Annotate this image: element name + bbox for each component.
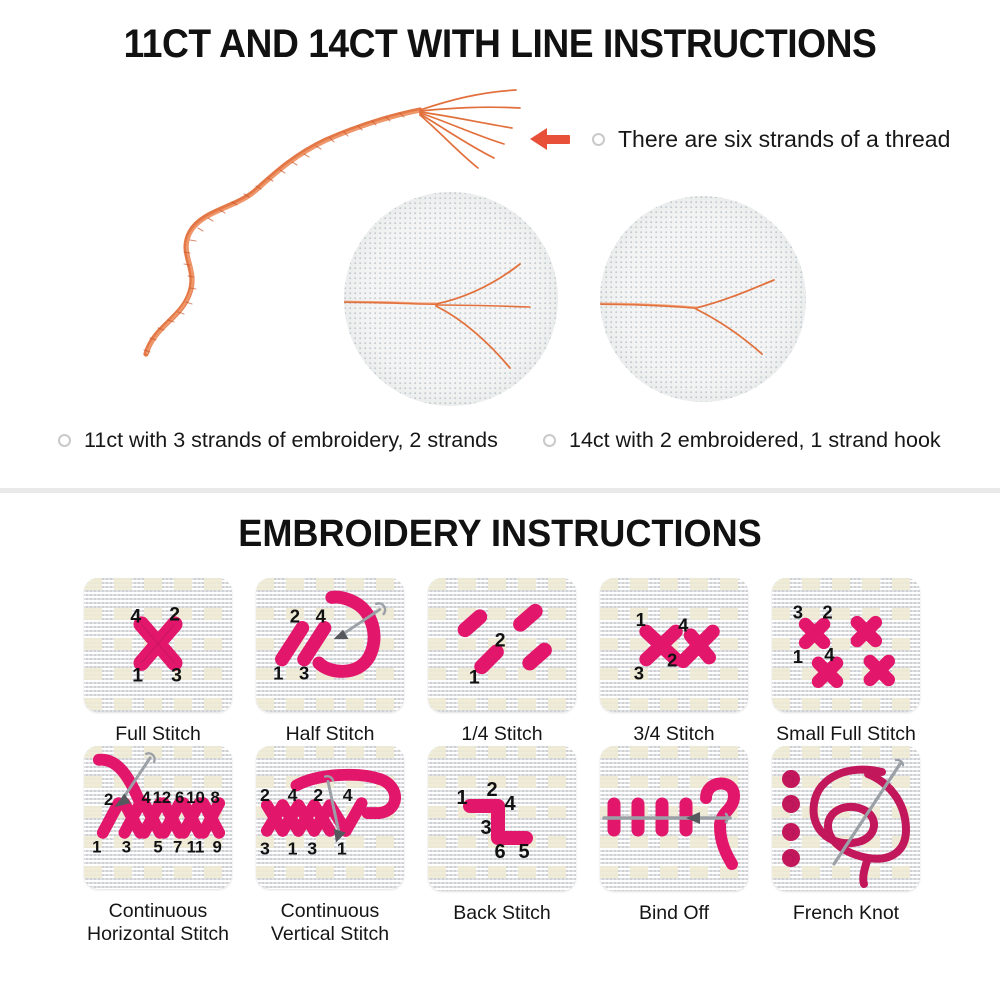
- stitch-number: 1: [273, 663, 283, 684]
- stitch-cell-continuous-horizontal: 2 4 12 6 10 8 1 3 5 7 11 9 Continuous Ho: [72, 746, 244, 946]
- stitch-cell-bind-off: Bind Off: [588, 746, 760, 946]
- fabric-circle-11ct: [344, 192, 558, 406]
- circle-inner-shadow: [600, 196, 806, 402]
- stitch-number: 11: [187, 838, 205, 857]
- stitch-label: Continuous Horizontal Stitch: [87, 900, 229, 946]
- stitch-tile-three-quarter-stitch: 1 4 2 3: [600, 578, 748, 712]
- stitch-number: 3: [122, 838, 131, 857]
- stitch-tile-french-knot: [772, 746, 920, 891]
- stitch-number: 9: [213, 838, 222, 857]
- stitch-number: 5: [153, 838, 162, 857]
- stitch-label: 1/4 Stitch: [461, 723, 542, 746]
- caption-14ct-text: 14ct with 2 embroidered, 1 strand hook: [569, 428, 941, 453]
- stitch-tile-small-full-stitch: 3 2 1 4: [772, 578, 920, 712]
- french-knot-diagram: [772, 746, 920, 891]
- stitch-number: 2: [313, 785, 323, 805]
- half-stitch-diagram: 2 4 1 3: [256, 578, 404, 712]
- quarter-stitch-diagram: 2 1: [428, 578, 576, 712]
- stitch-number: 2: [290, 605, 300, 626]
- continuous-vertical-diagram: 2 4 2 4 3 1 3 1: [256, 746, 404, 889]
- stitch-number: 2: [822, 602, 832, 623]
- stitch-number: 1: [132, 665, 143, 687]
- stitch-number: 3: [307, 838, 317, 858]
- stitch-number: 1: [337, 838, 347, 858]
- stitch-number: 3: [171, 665, 182, 687]
- stitch-cell-full-stitch: 4 2 1 3 Full Stitch: [72, 578, 244, 746]
- full-stitch-diagram: 4 2 1 3: [84, 578, 232, 712]
- stitch-tile-continuous-vertical: 2 4 2 4 3 1 3 1: [256, 746, 404, 889]
- stitch-number: 4: [824, 644, 835, 665]
- stitch-tile-bind-off: [600, 746, 748, 891]
- stitch-number: 10: [186, 788, 205, 807]
- stitch-number: 2: [495, 629, 506, 651]
- stitch-tile-continuous-horizontal: 2 4 12 6 10 8 1 3 5 7 11 9: [84, 746, 232, 889]
- stitch-number: 5: [518, 841, 529, 863]
- stitch-number: 12: [153, 788, 172, 807]
- arrow-left-icon: [530, 128, 570, 150]
- stitch-cell-french-knot: French Knot: [760, 746, 932, 946]
- stitch-tile-full-stitch: 4 2 1 3: [84, 578, 232, 712]
- fabric-circle-14ct: [600, 196, 806, 402]
- french-knot-dots: [782, 770, 800, 867]
- stitch-cell-quarter-stitch: 2 1 1/4 Stitch: [416, 578, 588, 746]
- stitch-cell-half-stitch: 2 4 1 3 Half Stitch: [244, 578, 416, 746]
- bind-off-diagram: [600, 746, 748, 891]
- stitch-number: 3: [299, 663, 309, 684]
- stitch-cell-back-stitch: 1 2 4 3 6 5 Back Stitch: [416, 746, 588, 946]
- stitch-number: 3: [793, 602, 803, 623]
- stitch-cell-continuous-vertical: 2 4 2 4 3 1 3 1 Continuous Vertical Stit…: [244, 746, 416, 946]
- stitch-number: 4: [504, 793, 516, 815]
- stitch-number: 4: [343, 785, 353, 805]
- circle-bullet-icon: [592, 133, 605, 146]
- stitch-number: 2: [486, 779, 497, 801]
- stitch-label: Small Full Stitch: [776, 723, 916, 746]
- page-title: 11CT AND 14CT WITH LINE INSTRUCTIONS: [35, 22, 965, 67]
- stitch-number: 1: [636, 609, 646, 630]
- stitch-label: French Knot: [793, 902, 899, 925]
- stitch-number: 6: [175, 788, 184, 807]
- small-full-stitch-diagram: 3 2 1 4: [772, 578, 920, 712]
- three-quarter-stitch-diagram: 1 4 2 3: [600, 578, 748, 712]
- stitch-number: 2: [169, 604, 180, 626]
- circle-inner-shadow: [344, 192, 558, 406]
- caption-11ct-text: 11ct with 3 strands of embroidery, 2 str…: [84, 428, 498, 453]
- stitch-tile-half-stitch: 2 4 1 3: [256, 578, 404, 712]
- stitch-label: Bind Off: [639, 902, 709, 925]
- stitch-label: Back Stitch: [453, 902, 551, 925]
- stitch-tile-back-stitch: 1 2 4 3 6 5: [428, 746, 576, 891]
- section-embroidery-instructions: EMBROIDERY INSTRUCTIONS 4: [0, 493, 1000, 1000]
- stitch-number: 3: [634, 663, 644, 684]
- stitch-number: 4: [142, 788, 152, 807]
- stitch-number: 4: [678, 615, 689, 636]
- caption-14ct: 14ct with 2 embroidered, 1 strand hook: [543, 428, 941, 453]
- stitch-label: 3/4 Stitch: [633, 723, 714, 746]
- stitch-number: 8: [211, 788, 220, 807]
- stitch-label: Full Stitch: [115, 723, 201, 746]
- stitch-number: 7: [173, 838, 182, 857]
- stitch-number: 2: [104, 790, 113, 809]
- stitch-number: 1: [92, 838, 101, 857]
- infographic-page: 11CT AND 14CT WITH LINE INSTRUCTIONS: [0, 0, 1000, 1000]
- embroidery-title: EMBROIDERY INSTRUCTIONS: [25, 513, 975, 556]
- stitch-number: 1: [793, 646, 803, 667]
- circle-bullet-icon: [58, 434, 71, 447]
- stitch-number: 1: [288, 838, 298, 858]
- stitch-tile-quarter-stitch: 2 1: [428, 578, 576, 712]
- stitch-label: Half Stitch: [286, 723, 375, 746]
- continuous-horizontal-diagram: 2 4 12 6 10 8 1 3 5 7 11 9: [84, 746, 232, 889]
- stitch-number: 1: [469, 666, 480, 688]
- stitch-number: 4: [288, 785, 298, 805]
- stitch-number: 4: [130, 605, 141, 627]
- stitch-number: 2: [667, 650, 677, 671]
- stitch-label: Continuous Vertical Stitch: [271, 900, 389, 946]
- stitch-grid: 4 2 1 3 Full Stitch: [72, 578, 932, 946]
- stitch-cell-three-quarter-stitch: 1 4 2 3 3/4 Stitch: [588, 578, 760, 746]
- stitch-number: 6: [494, 841, 505, 863]
- six-strands-note: There are six strands of a thread: [530, 122, 950, 156]
- back-stitch-diagram: 1 2 4 3 6 5: [428, 746, 576, 891]
- caption-11ct: 11ct with 3 strands of embroidery, 2 str…: [58, 428, 498, 453]
- stitch-number: 3: [260, 838, 270, 858]
- circle-bullet-icon: [543, 434, 556, 447]
- section-thread-instructions: 11CT AND 14CT WITH LINE INSTRUCTIONS: [0, 0, 1000, 490]
- stitch-cell-small-full-stitch: 3 2 1 4 Small Full Stitch: [760, 578, 932, 746]
- six-strands-note-text: There are six strands of a thread: [618, 126, 950, 153]
- stitch-number: 2: [260, 785, 270, 805]
- stitch-number: 4: [316, 605, 327, 626]
- stitch-number: 3: [480, 817, 491, 839]
- stitch-number: 1: [456, 787, 467, 809]
